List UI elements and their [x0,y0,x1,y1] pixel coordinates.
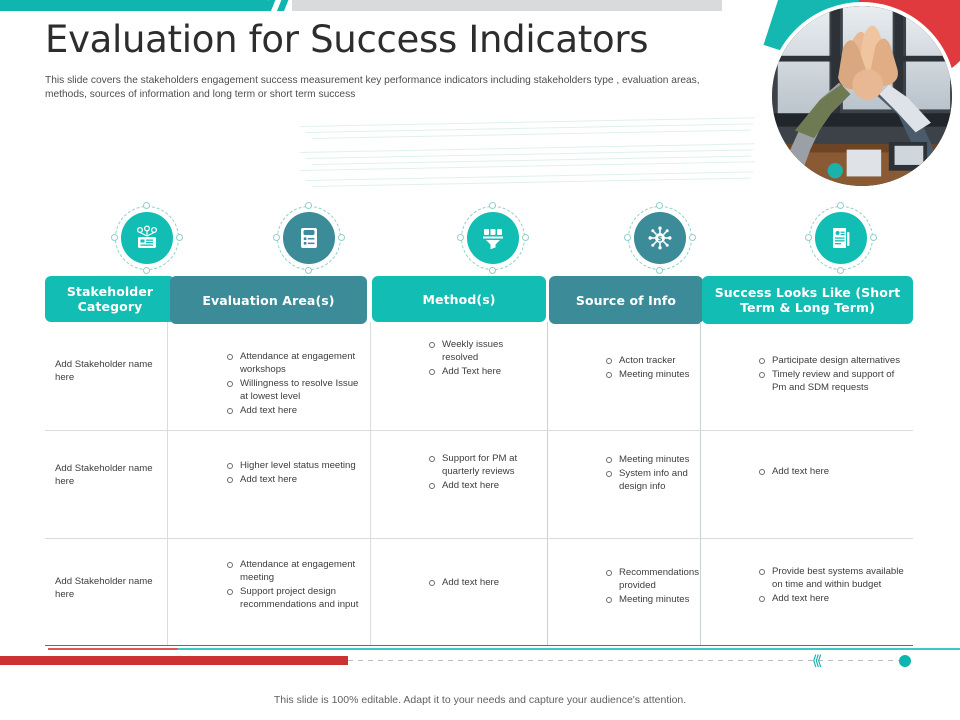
ring-node [656,202,663,209]
list-item: Acton tracker [605,354,697,367]
source-cell: Acton trackerMeeting minutes [605,354,697,382]
list-item: Higher level status meeting [226,459,361,472]
header-photo-group [748,0,960,202]
list-item: Weekly issues resolved [428,338,540,364]
evaluation-cell: Higher level status meetingAdd text here [226,459,361,487]
ring-node [305,267,312,274]
slide-root: Evaluation for Success Indicators This s… [0,0,960,720]
list-item: Meeting minutes [605,453,697,466]
footer-red-bar [0,656,348,665]
ring-node [805,234,812,241]
ring-node [489,267,496,274]
list-item: Meeting minutes [605,593,697,606]
stakeholder-category-cell: Add Stakeholder name here [55,575,159,601]
stakeholder-network-icon-badge [115,206,179,270]
ring-node [870,234,877,241]
report-document-icon-badge [809,206,873,270]
list-item: Timely review and support of Pm and SDM … [758,368,907,394]
ring-node [305,202,312,209]
list-item: Meeting minutes [605,368,697,381]
clipboard-checklist-icon-badge [277,206,341,270]
list-item: Add text here [226,473,361,486]
ring-node [273,234,280,241]
page-title: Evaluation for Success Indicators [45,18,648,61]
list-item: Add text here [428,479,540,492]
table-body-grid: Add Stakeholder name hereAttendance at e… [45,322,913,646]
ring-node [111,234,118,241]
source-cell: Meeting minutesSystem info and design in… [605,453,697,494]
clipboard-checklist-icon [283,212,335,264]
method-cell: Weekly issues resolvedAdd Text here [428,338,540,379]
column-divider [547,322,548,646]
information-hub-icon-badge: $ [628,206,692,270]
table-header-cell: Success Looks Like (Short Term & Long Te… [702,276,913,324]
table-header-cell: Stakeholder Category [45,276,175,322]
footer-dashed-line [348,660,908,661]
svg-text:$: $ [658,235,663,243]
column-divider [700,322,701,646]
list-item: Support for PM at quarterly reviews [428,452,540,478]
information-hub-icon: $ [634,212,686,264]
stakeholder-network-icon [121,212,173,264]
page-subtitle: This slide covers the stakeholders engag… [45,74,705,102]
list-item: Attendance at engagement workshops [226,350,361,376]
stakeholder-category-cell: Add Stakeholder name here [55,462,159,488]
ring-node [837,267,844,274]
list-item: Participate design alternatives [758,354,907,367]
ring-node [176,234,183,241]
column-divider [370,322,371,646]
evaluation-cell: Attendance at engagement workshopsWillin… [226,350,361,418]
method-cell: Add text here [428,576,540,590]
source-cell: Recommendations providedMeeting minutes [605,566,697,607]
list-item: Attendance at engagement meeting [226,558,361,584]
list-item: Add text here [226,404,361,417]
row-divider [45,430,913,431]
ring-node [656,267,663,274]
top-accent-bar-teal [0,0,268,11]
footer-dot-marker [899,655,911,667]
evaluation-cell: Attendance at engagement meetingSupport … [226,558,361,612]
list-item: System info and design info [605,467,697,493]
list-item: Add Text here [428,365,540,378]
method-funnel-icon [467,212,519,264]
list-item: Add text here [428,576,540,589]
row-divider [45,538,913,539]
ring-node [522,234,529,241]
list-item: Add text here [758,465,907,478]
icon-row: $ [45,206,913,272]
list-item: Recommendations provided [605,566,697,592]
footer-teal-line [178,648,960,650]
list-item: Add text here [758,592,907,605]
chevrons-left-icon: ⟨⟨⟨ [812,653,819,669]
team-highfive-photo [768,2,956,190]
decorative-hairlines [300,118,770,213]
success-cell: Participate design alternativesTimely re… [758,354,907,395]
ring-node [837,202,844,209]
ring-node [143,267,150,274]
list-item: Support project design recommendations a… [226,585,361,611]
list-item: Willingness to resolve Issue at lowest l… [226,377,361,403]
indicators-table: Stakeholder CategoryEvaluation Area(s)Me… [45,276,913,646]
ring-node [338,234,345,241]
ring-node [489,202,496,209]
table-header-cell: Evaluation Area(s) [170,276,367,324]
table-bottom-rule [45,645,913,646]
method-funnel-icon-badge [461,206,525,270]
column-divider [167,322,168,646]
ring-node [457,234,464,241]
ring-node [143,202,150,209]
table-header-row: Stakeholder CategoryEvaluation Area(s)Me… [45,276,913,322]
success-cell: Provide best systems available on time a… [758,565,907,606]
ring-node [689,234,696,241]
success-cell: Add text here [758,465,907,479]
footer-note: This slide is 100% editable. Adapt it to… [0,694,960,706]
list-item: Provide best systems available on time a… [758,565,907,591]
stakeholder-category-cell: Add Stakeholder name here [55,358,159,384]
table-header-cell: Source of Info [549,276,703,324]
table-header-cell: Method(s) [372,276,546,322]
ring-node [624,234,631,241]
top-accent-bar-grey [292,0,722,11]
report-document-icon [815,212,867,264]
method-cell: Support for PM at quarterly reviewsAdd t… [428,452,540,493]
